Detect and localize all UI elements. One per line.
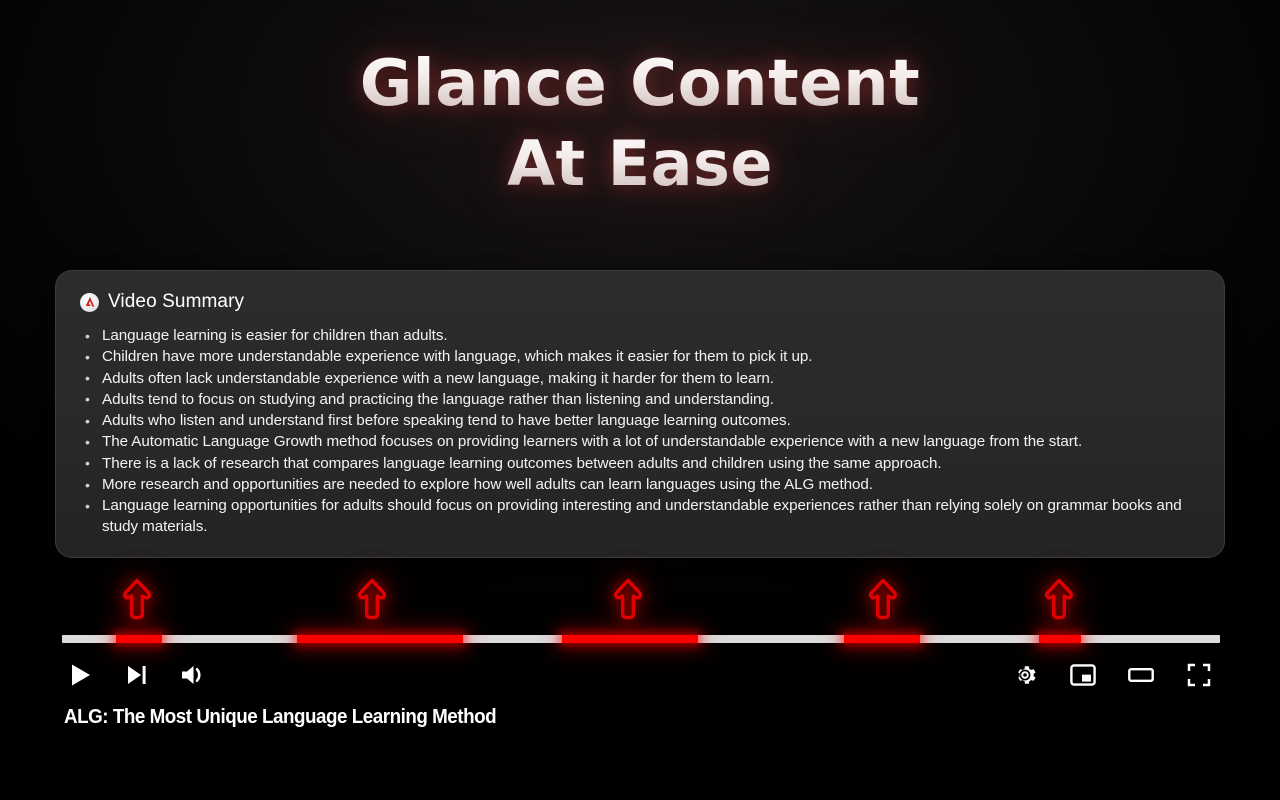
right-controls — [1008, 658, 1216, 692]
summary-bullet: Adults tend to focus on studying and pra… — [80, 390, 1202, 411]
video-summary-header: Video Summary — [80, 291, 1202, 313]
control-bar — [0, 658, 1280, 698]
chapter-marker-5[interactable] — [1042, 576, 1076, 622]
next-track-icon — [126, 664, 148, 686]
settings-button[interactable] — [1008, 658, 1042, 692]
hero-title-line-2: At Ease — [0, 124, 1280, 204]
progress-highlight-segment[interactable] — [844, 635, 920, 643]
miniplayer-button[interactable] — [1066, 658, 1100, 692]
progress-highlight-segment[interactable] — [116, 635, 161, 643]
theater-mode-button[interactable] — [1124, 658, 1158, 692]
play-button[interactable] — [64, 658, 98, 692]
progress-bar[interactable] — [62, 635, 1220, 643]
summary-bullet: Children have more understandable experi… — [80, 347, 1202, 368]
volume-button[interactable] — [176, 658, 210, 692]
progress-highlight-segment[interactable] — [562, 635, 697, 643]
video-summary-title: Video Summary — [108, 291, 244, 313]
volume-icon — [180, 664, 206, 686]
page-root: Glance Content At Ease Video Summary Lan… — [0, 0, 1280, 800]
next-button[interactable] — [120, 658, 154, 692]
chapter-marker-4[interactable] — [866, 576, 900, 622]
theater-mode-icon — [1128, 665, 1154, 685]
picture-in-picture-icon — [1070, 663, 1096, 687]
hero-title-line-1: Glance Content — [0, 44, 1280, 124]
video-title: ALG: The Most Unique Language Learning M… — [64, 706, 496, 729]
chapter-markers — [0, 566, 1280, 634]
summary-bullet: More research and opportunities are need… — [80, 475, 1202, 496]
fullscreen-icon — [1187, 663, 1211, 687]
summary-bullet: Language learning is easier for children… — [80, 326, 1202, 347]
hero-title: Glance Content At Ease — [0, 44, 1280, 204]
chapter-marker-1[interactable] — [120, 576, 154, 622]
summary-bullet: There is a lack of research that compare… — [80, 454, 1202, 475]
summary-bullet: Language learning opportunities for adul… — [80, 496, 1202, 538]
summary-bullet: Adults who listen and understand first b… — [80, 411, 1202, 432]
summary-bullet: The Automatic Language Growth method foc… — [80, 432, 1202, 453]
video-summary-bullet-list: Language learning is easier for children… — [80, 326, 1202, 538]
arkose-a-icon — [80, 293, 99, 312]
chapter-marker-3[interactable] — [611, 576, 645, 622]
summary-bullet: Adults often lack understandable experie… — [80, 369, 1202, 390]
gear-icon — [1013, 663, 1037, 687]
progress-highlight-segment[interactable] — [297, 635, 463, 643]
left-controls — [64, 658, 210, 692]
video-summary-card: Video Summary Language learning is easie… — [55, 270, 1225, 558]
fullscreen-button[interactable] — [1182, 658, 1216, 692]
play-icon — [70, 663, 92, 687]
chapter-marker-2[interactable] — [355, 576, 389, 622]
video-player-controls: ALG: The Most Unique Language Learning M… — [0, 566, 1280, 752]
progress-highlight-segment[interactable] — [1039, 635, 1081, 643]
